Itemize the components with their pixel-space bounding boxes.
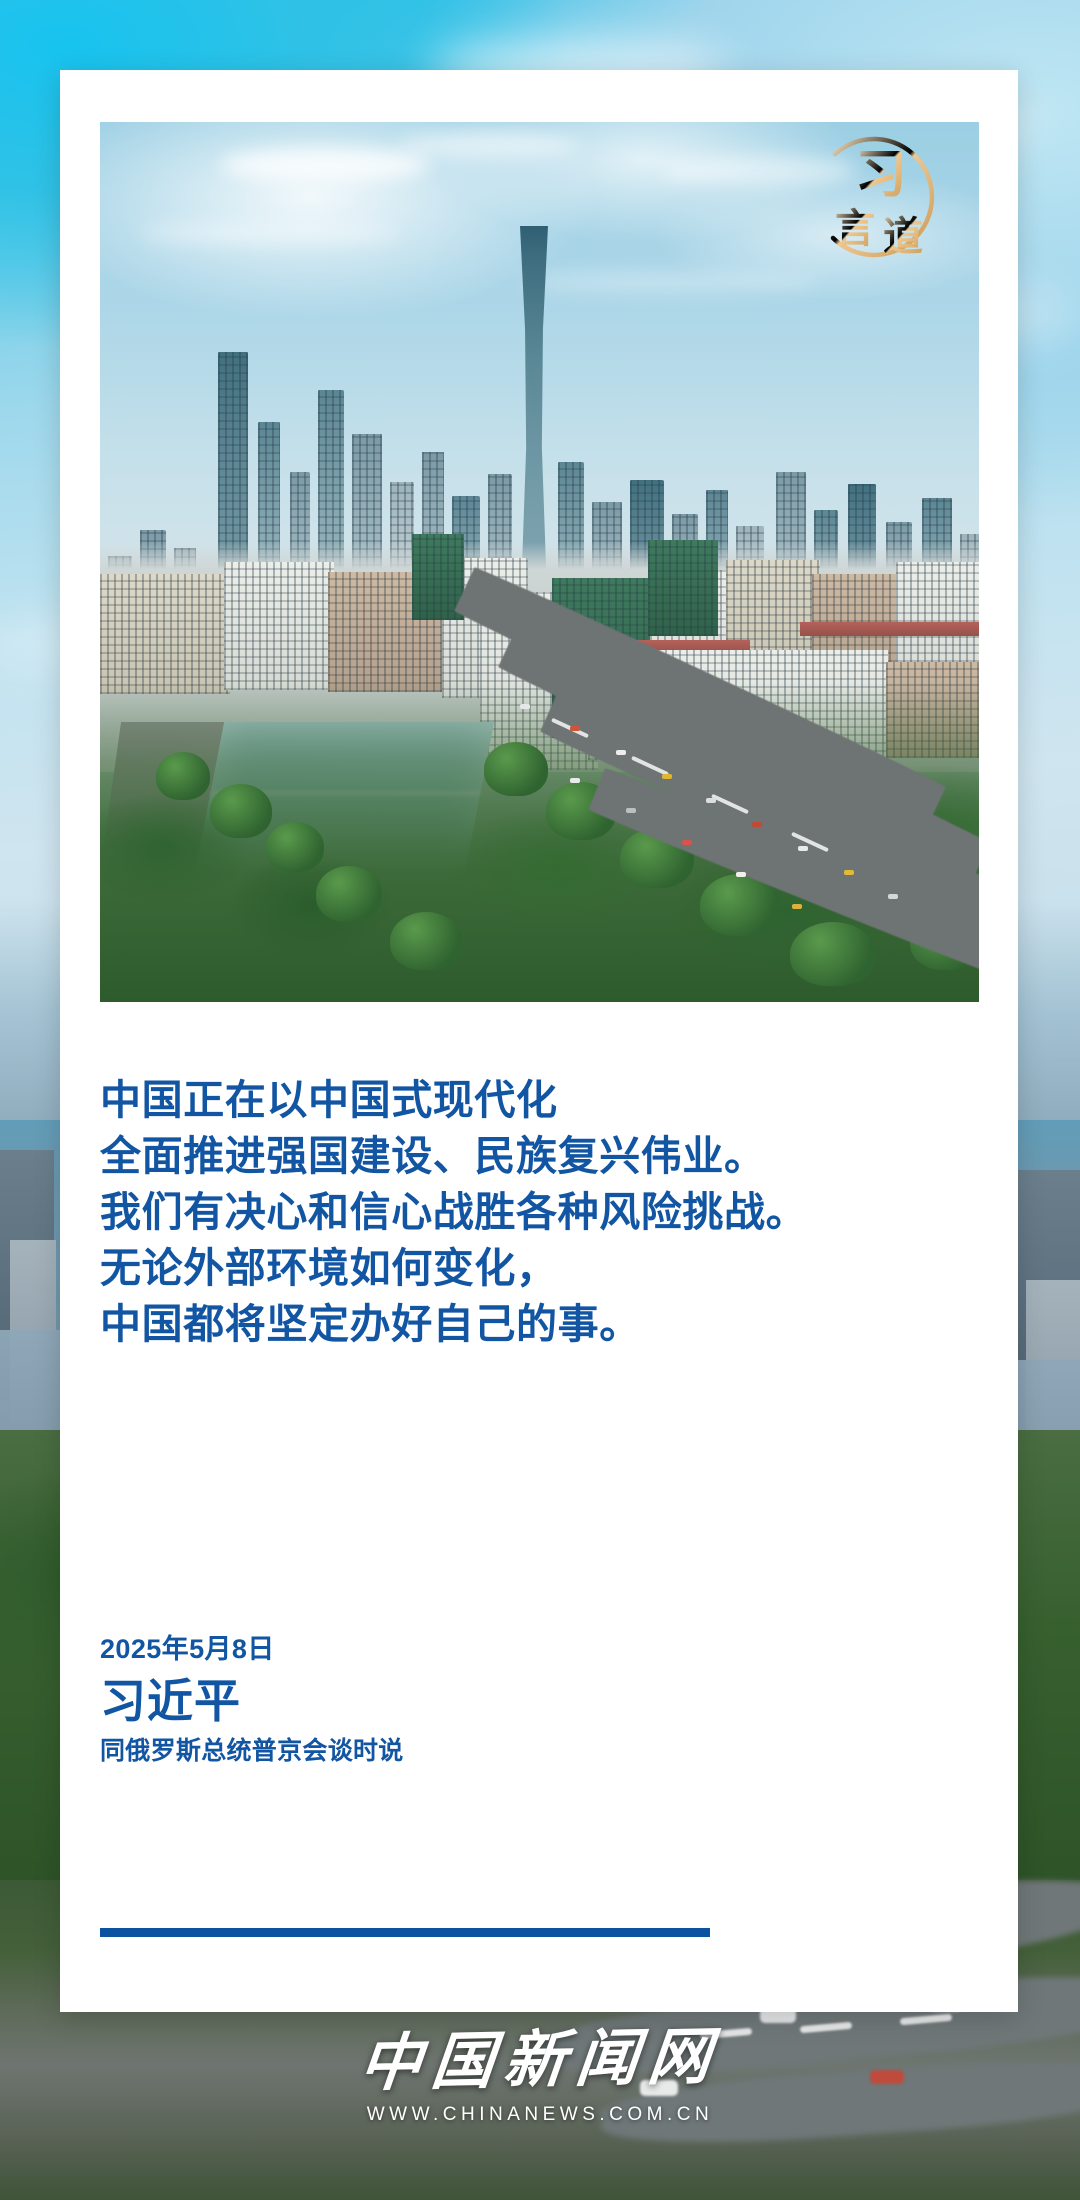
quote-line-1: 中国正在以中国式现代化	[100, 1072, 980, 1128]
svg-text:习: 习	[855, 147, 907, 204]
quote-block: 中国正在以中国式现代化 全面推进强国建设、民族复兴伟业。 我们有决心和信心战胜各…	[100, 1072, 980, 1352]
quote-line-2: 全面推进强国建设、民族复兴伟业。	[100, 1128, 980, 1184]
quote-line-3: 我们有决心和信心战胜各种风险挑战。	[100, 1184, 980, 1240]
poster-root: 习 言 道 中国正在以中国式现代化 全面推进强国建设、民族复兴伟业。 我们有决心…	[0, 0, 1080, 2200]
svg-text:道: 道	[883, 214, 923, 259]
attribution-block: 2025年5月8日 习近平 同俄罗斯总统普京会谈时说	[100, 1630, 980, 1768]
speaker-name: 习近平	[100, 1670, 980, 1732]
photo-highway	[430, 682, 979, 1002]
xi-yan-dao-seal: 习 言 道	[797, 126, 957, 276]
quote-line-5: 中国都将坚定办好自己的事。	[100, 1296, 980, 1352]
quote-context: 同俄罗斯总统普京会谈时说	[100, 1734, 980, 1768]
hero-photo: 习 言 道	[100, 122, 979, 1002]
quote-line-4: 无论外部环境如何变化，	[100, 1240, 980, 1296]
quote-date: 2025年5月8日	[100, 1630, 980, 1668]
divider-rule	[100, 1928, 710, 1937]
poster-card: 习 言 道 中国正在以中国式现代化 全面推进强国建设、民族复兴伟业。 我们有决心…	[60, 70, 1018, 2012]
svg-text:言: 言	[835, 206, 875, 251]
